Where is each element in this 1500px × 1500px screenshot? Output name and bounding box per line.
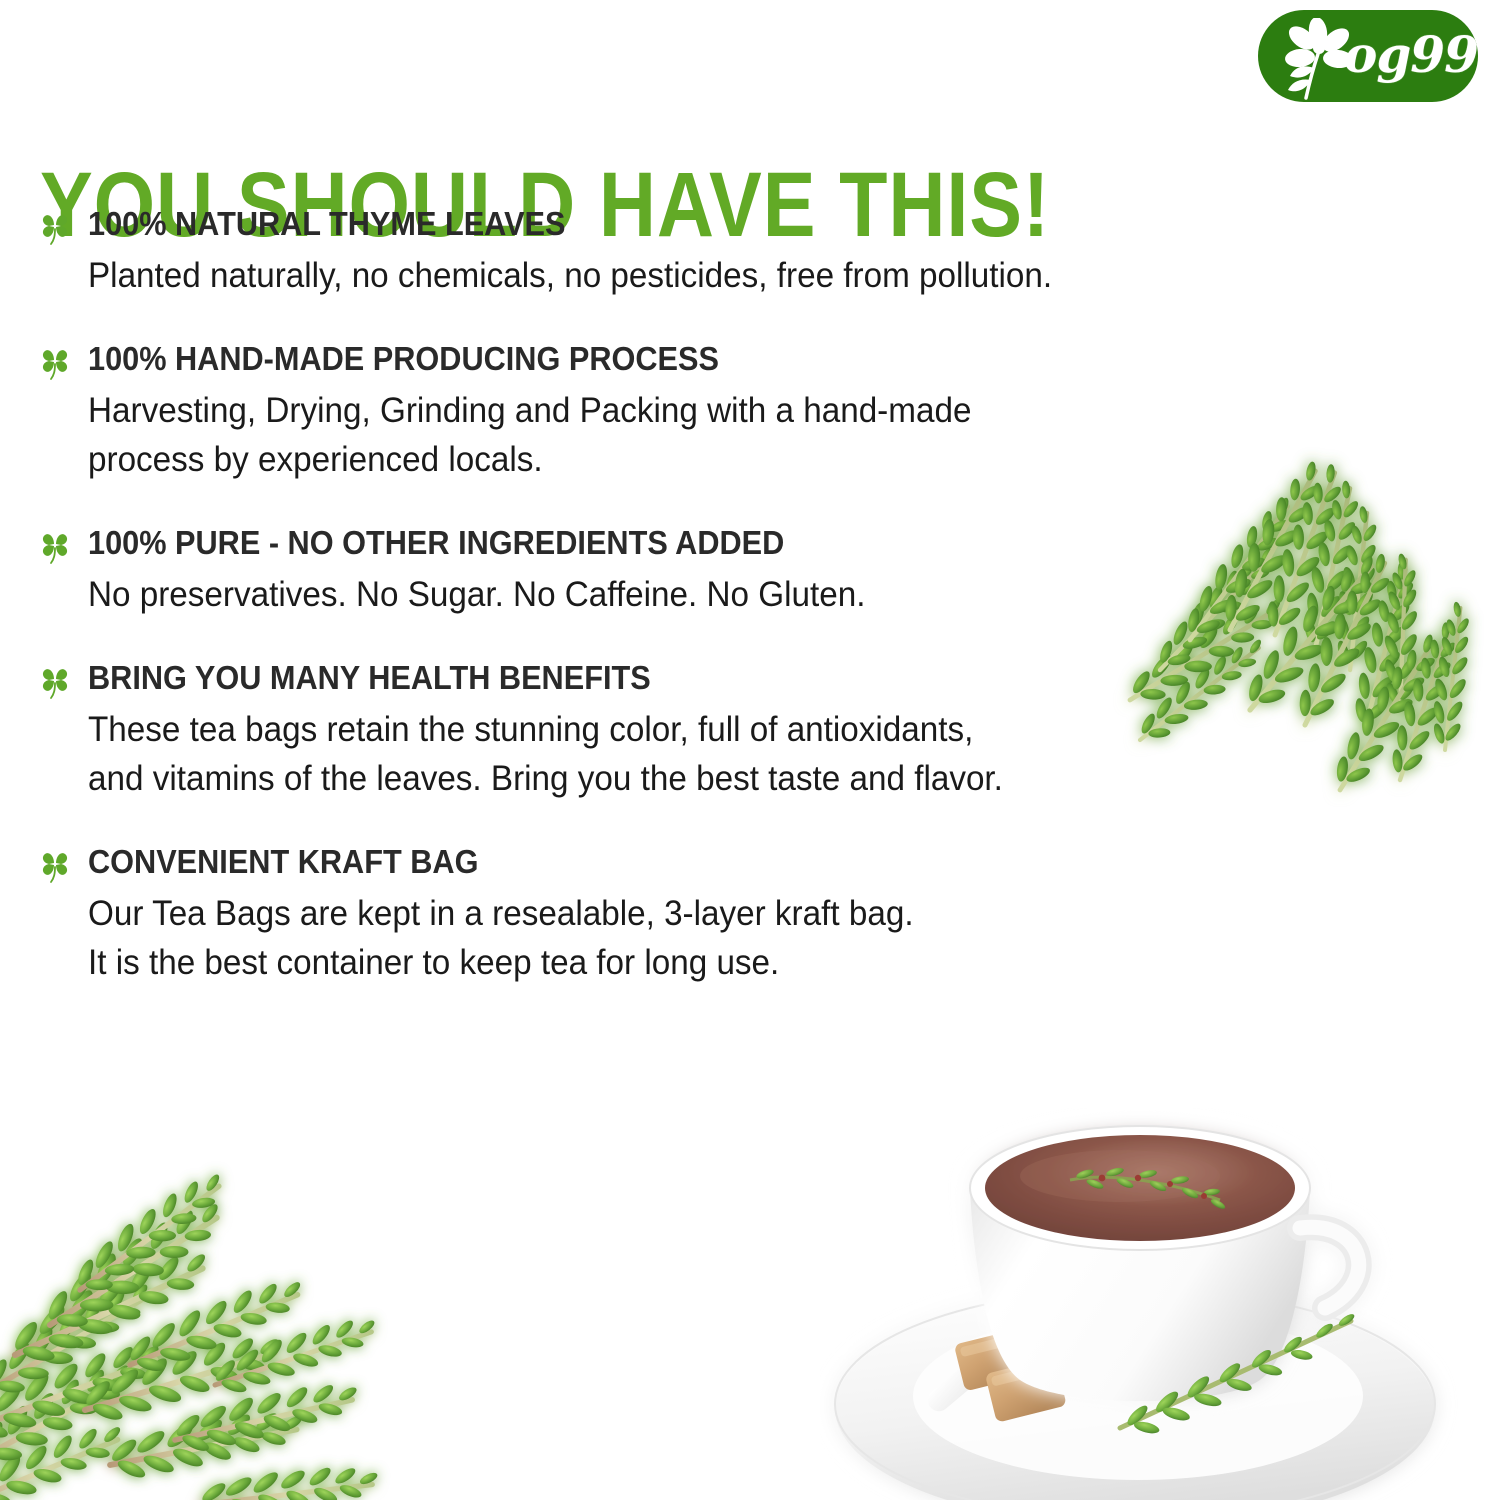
feature-body-line: It is the best container to keep tea for… — [88, 938, 1369, 987]
four-leaf-clover-icon — [38, 209, 72, 247]
feature-body-line: Planted naturally, no chemicals, no pest… — [88, 251, 1369, 300]
feature-title: CONVENIENT KRAFT BAG — [88, 841, 1342, 883]
feature-body-line: and vitamins of the leaves. Bring you th… — [88, 754, 1369, 803]
feature-title: 100% PURE - NO OTHER INGREDIENTS ADDED — [88, 522, 1342, 564]
feature-title: 100% HAND-MADE PRODUCING PROCESS — [88, 338, 1342, 380]
feature-body-line: These tea bags retain the stunning color… — [88, 705, 1369, 754]
feature-title: 100% NATURAL THYME LEAVES — [88, 203, 1342, 245]
feature-title: BRING YOU MANY HEALTH BENEFITS — [88, 657, 1342, 699]
logo-wordmark: og999 — [1344, 24, 1478, 86]
feature-item: 100% PURE - NO OTHER INGREDIENTS ADDED N… — [36, 522, 1436, 619]
feature-body: Harvesting, Drying, Grinding and Packing… — [88, 386, 1369, 484]
feature-body-line: No preservatives. No Sugar. No Caffeine.… — [88, 570, 1369, 619]
feature-body-line: process by experienced locals. — [88, 435, 1369, 484]
feature-body: Our Tea Bags are kept in a resealable, 3… — [88, 889, 1369, 987]
teacup-of-tea-photo — [820, 1108, 1460, 1500]
feature-body: Planted naturally, no chemicals, no pest… — [88, 251, 1369, 300]
feature-body-line: Harvesting, Drying, Grinding and Packing… — [88, 386, 1369, 435]
feature-body-line: Our Tea Bags are kept in a resealable, 3… — [88, 889, 1369, 938]
feature-item: CONVENIENT KRAFT BAG Our Tea Bags are ke… — [36, 841, 1436, 987]
infographic-page: og999 YOU SHOULD HAVE THIS! 100% NATURAL… — [0, 0, 1500, 1500]
feature-item: 100% HAND-MADE PRODUCING PROCESS Harvest… — [36, 338, 1436, 484]
brand-logo[interactable]: og999 — [1258, 10, 1478, 102]
feature-item: BRING YOU MANY HEALTH BENEFITS These tea… — [36, 657, 1436, 803]
four-leaf-clover-icon — [38, 344, 72, 382]
feature-item: 100% NATURAL THYME LEAVES Planted natura… — [36, 203, 1436, 300]
thyme-sprigs-photo-left — [0, 1110, 430, 1500]
feature-body: These tea bags retain the stunning color… — [88, 705, 1369, 803]
four-leaf-clover-icon — [38, 528, 72, 566]
feature-list: 100% NATURAL THYME LEAVES Planted natura… — [36, 203, 1436, 987]
feature-body: No preservatives. No Sugar. No Caffeine.… — [88, 570, 1369, 619]
four-leaf-clover-icon — [38, 663, 72, 701]
four-leaf-clover-icon — [38, 847, 72, 885]
